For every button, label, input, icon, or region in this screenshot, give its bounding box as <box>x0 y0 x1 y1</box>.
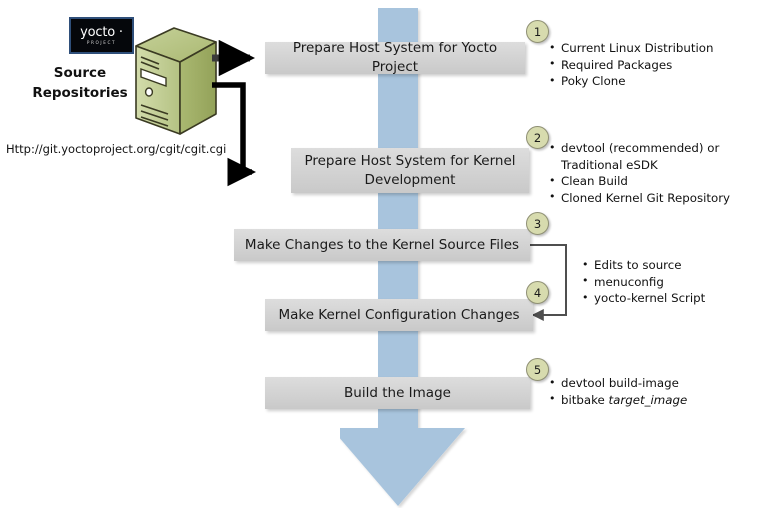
list-item: Clean Build <box>548 173 763 190</box>
diagram-canvas: yocto · PROJECT Source Repositories Http… <box>0 0 769 517</box>
step-badge-4: 4 <box>526 281 549 304</box>
step-badge-2: 2 <box>526 126 549 149</box>
process-box-step-1[interactable]: Prepare Host System for Yocto Project <box>265 42 525 74</box>
process-box-step-3[interactable]: Make Changes to the Kernel Source Files <box>234 229 530 261</box>
yocto-logo-subtext: PROJECT <box>87 41 116 45</box>
process-box-step-5[interactable]: Build the Image <box>265 377 530 409</box>
source-label-line1: Source <box>18 63 142 83</box>
list-item: Poky Clone <box>548 73 763 90</box>
bullets-steps-3-4: Edits to source menuconfig yocto-kernel … <box>581 257 761 307</box>
server-tower-icon <box>128 26 224 138</box>
step-badge-5: 5 <box>526 358 549 381</box>
list-item: Edits to source <box>581 257 761 274</box>
bullets-step-1: Current Linux Distribution Required Pack… <box>548 40 763 90</box>
bullets-step-2: devtool (recommended) or Traditional eSD… <box>548 140 763 206</box>
yocto-logo-wordmark: yocto · <box>80 26 123 39</box>
bullet-text: bitbake <box>561 393 609 407</box>
bullet-emphasis: target_image <box>609 393 688 407</box>
list-item: bitbake target_image <box>548 392 748 409</box>
source-repositories-label: Source Repositories <box>18 63 142 103</box>
source-repository-url: Http://git.yoctoproject.org/cgit/cgit.cg… <box>6 142 226 156</box>
bullet-text: devtool build-image <box>561 376 679 390</box>
list-item: devtool (recommended) or Traditional eSD… <box>548 140 763 173</box>
list-item: Cloned Kernel Git Repository <box>548 190 763 207</box>
list-item: Required Packages <box>548 57 763 74</box>
list-item: yocto-kernel Script <box>581 290 761 307</box>
source-label-line2: Repositories <box>18 83 142 103</box>
process-box-step-2[interactable]: Prepare Host System for Kernel Developme… <box>291 148 529 193</box>
process-box-step-4[interactable]: Make Kernel Configuration Changes <box>265 299 533 331</box>
list-item: devtool build-image <box>548 375 748 392</box>
list-item: menuconfig <box>581 274 761 291</box>
bullets-step-5: devtool build-image bitbake target_image <box>548 375 748 408</box>
step-badge-3: 3 <box>526 212 549 235</box>
yocto-project-logo: yocto · PROJECT <box>69 17 134 54</box>
list-item: Current Linux Distribution <box>548 40 763 57</box>
step-badge-1: 1 <box>526 20 549 43</box>
